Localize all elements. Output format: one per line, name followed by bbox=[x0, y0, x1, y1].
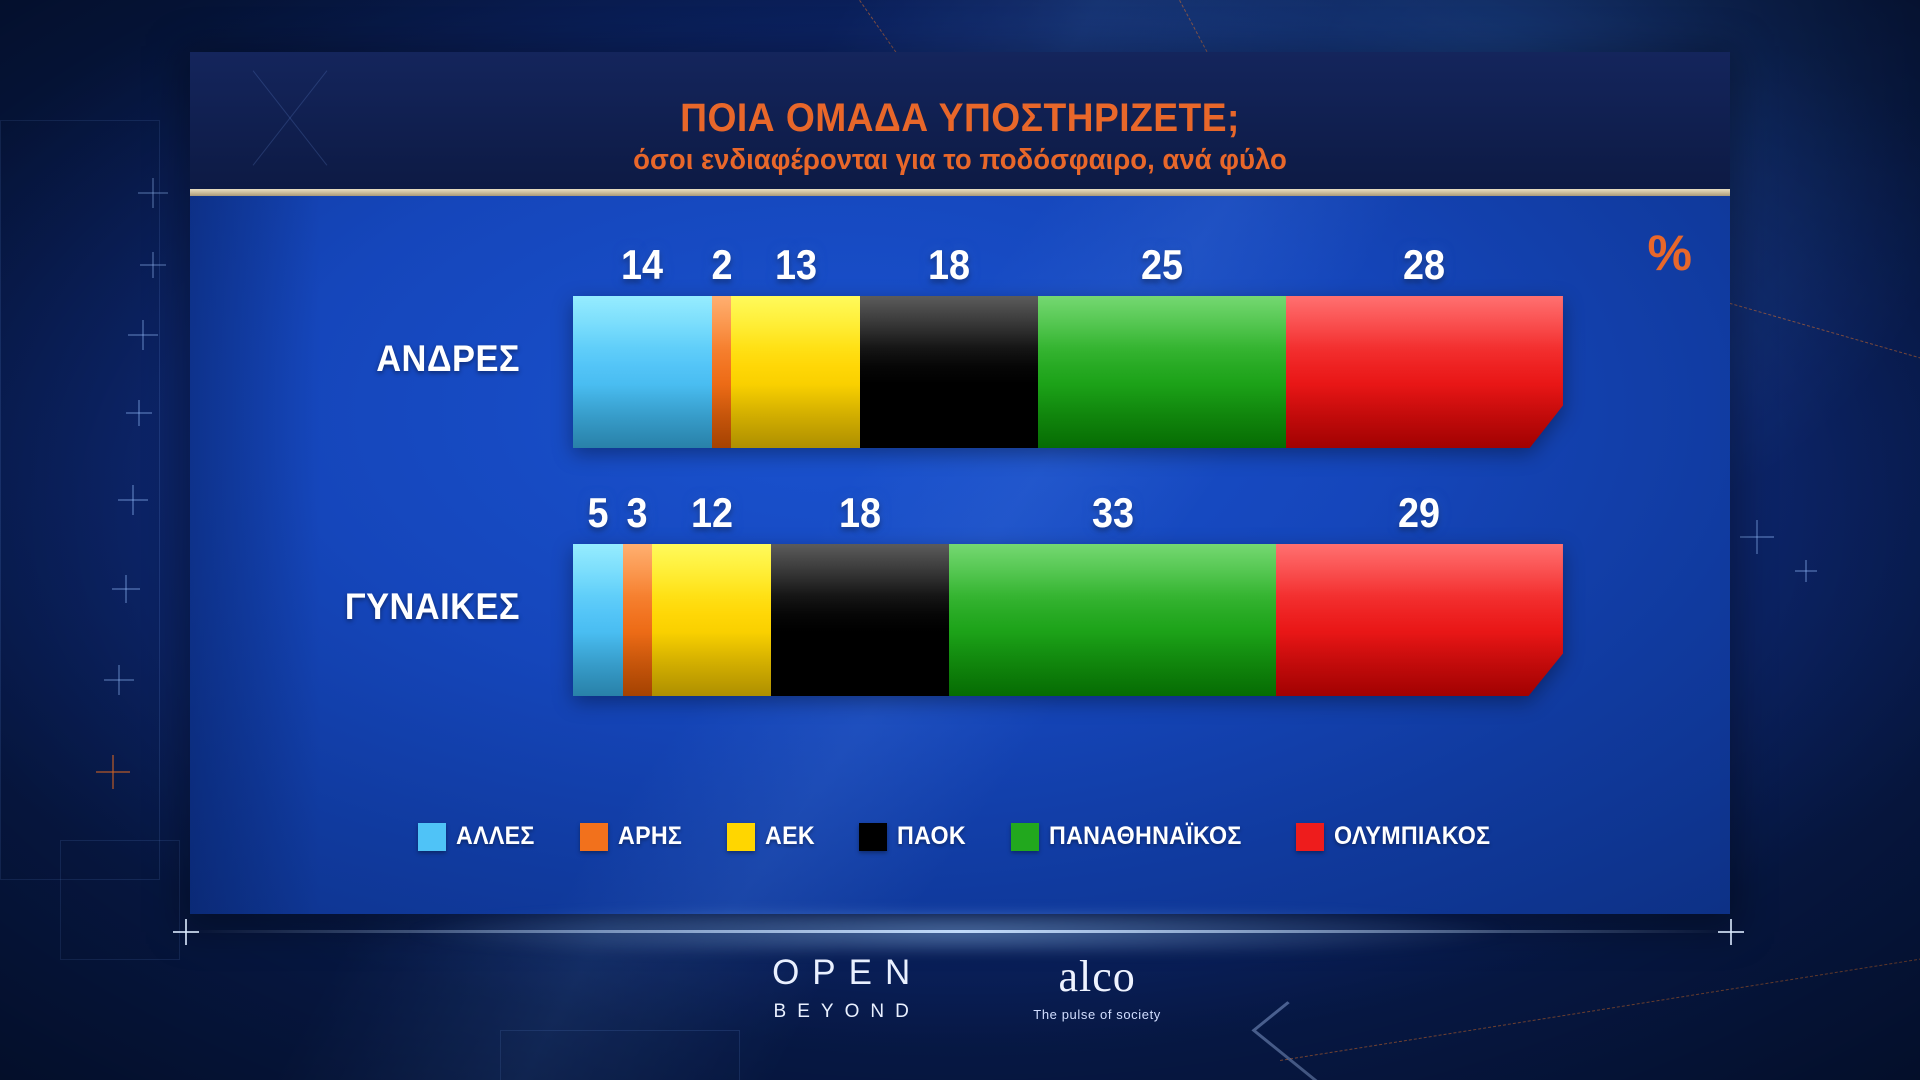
bar-value-label: 14 bbox=[621, 244, 663, 286]
bar-segment bbox=[623, 544, 653, 696]
open-logo-tagline: BEYOND bbox=[759, 1001, 923, 1023]
open-logo-word: OPEN bbox=[759, 955, 923, 990]
bar-segment bbox=[652, 544, 771, 696]
divider-tick-right-icon bbox=[1718, 919, 1744, 945]
bar-value-label: 5 bbox=[587, 492, 608, 534]
legend-item[interactable]: ΟΛΥΜΠΙΑΚΟΣ bbox=[1296, 822, 1502, 851]
legend-item[interactable]: ΑΛΛΕΣ bbox=[418, 822, 541, 851]
bar-value-label: 18 bbox=[839, 492, 881, 534]
legend-swatch-icon bbox=[1296, 823, 1324, 851]
value-labels-men: 14213182528 bbox=[573, 236, 1563, 286]
legend-item[interactable]: ΠΑΟΚ bbox=[859, 822, 971, 851]
bar-segment bbox=[731, 296, 860, 448]
alco-logo: alco The pulse of society bbox=[1033, 955, 1161, 1022]
alco-logo-word: alco bbox=[1033, 955, 1161, 999]
bar-value-label: 33 bbox=[1092, 492, 1134, 534]
row-label-men: ΑΝΔΡΕΣ bbox=[311, 338, 520, 380]
chart-row-women: ΓΥΝΑΙΚΕΣ 5312183329 bbox=[190, 484, 1730, 696]
divider-tick-left-icon bbox=[173, 919, 199, 945]
legend-label: ΠΑΟΚ bbox=[897, 822, 966, 851]
stacked-bar-women bbox=[573, 544, 1563, 696]
bar-segment bbox=[1276, 544, 1563, 696]
divider-line bbox=[185, 930, 1735, 933]
bar-segment bbox=[712, 296, 732, 448]
legend-label: ΟΛΥΜΠΙΑΚΟΣ bbox=[1334, 822, 1490, 851]
brand-bar: OPEN BEYOND alco The pulse of society bbox=[0, 955, 1920, 1023]
bar-segment bbox=[949, 544, 1276, 696]
row-label-women: ΓΥΝΑΙΚΕΣ bbox=[311, 586, 520, 628]
page-title: ΠΟΙΑ ΟΜΑΔΑ ΥΠΟΣΤΗΡΙΖΕΤΕ; bbox=[244, 96, 1676, 141]
value-labels-women: 5312183329 bbox=[573, 484, 1563, 534]
open-beyond-logo: OPEN BEYOND bbox=[759, 955, 923, 1023]
bar-segment bbox=[573, 544, 623, 696]
legend-item[interactable]: ΑΡΗΣ bbox=[580, 822, 687, 851]
bar-value-label: 25 bbox=[1141, 244, 1183, 286]
page-subtitle: όσοι ενδιαφέρονται για το ποδόσφαιρο, αν… bbox=[229, 144, 1692, 177]
bar-value-label: 29 bbox=[1398, 492, 1440, 534]
bar-segment bbox=[1286, 296, 1563, 448]
bar-segment bbox=[771, 544, 949, 696]
bar-value-label: 28 bbox=[1403, 244, 1445, 286]
chart-plot-area: % ΑΝΔΡΕΣ 14213182528 ΓΥΝΑΙΚΕΣ 5312183329… bbox=[190, 196, 1730, 914]
bar-value-label: 18 bbox=[928, 244, 970, 286]
bar-segment bbox=[860, 296, 1038, 448]
legend-label: ΑΕΚ bbox=[765, 822, 815, 851]
chart-row-men: ΑΝΔΡΕΣ 14213182528 bbox=[190, 236, 1730, 448]
chart-legend: ΑΛΛΕΣΑΡΗΣΑΕΚΠΑΟΚΠΑΝΑΘΗΝΑΪΚΟΣΟΛΥΜΠΙΑΚΟΣ bbox=[190, 822, 1730, 851]
bar-value-label: 2 bbox=[711, 244, 732, 286]
bar-segment bbox=[573, 296, 712, 448]
legend-swatch-icon bbox=[418, 823, 446, 851]
legend-swatch-icon bbox=[859, 823, 887, 851]
bar-value-label: 3 bbox=[627, 492, 648, 534]
graphic-header: ΠΟΙΑ ΟΜΑΔΑ ΥΠΟΣΤΗΡΙΖΕΤΕ; όσοι ενδιαφέρον… bbox=[190, 52, 1730, 189]
legend-label: ΑΛΛΕΣ bbox=[456, 822, 535, 851]
bar-segment bbox=[1038, 296, 1286, 448]
legend-label: ΑΡΗΣ bbox=[618, 822, 682, 851]
legend-swatch-icon bbox=[727, 823, 755, 851]
poll-graphic-panel: ΠΟΙΑ ΟΜΑΔΑ ΥΠΟΣΤΗΡΙΖΕΤΕ; όσοι ενδιαφέρον… bbox=[190, 52, 1730, 914]
legend-swatch-icon bbox=[1011, 823, 1039, 851]
legend-label: ΠΑΝΑΘΗΝΑΪΚΟΣ bbox=[1049, 822, 1242, 851]
legend-item[interactable]: ΑΕΚ bbox=[727, 822, 819, 851]
bar-value-label: 12 bbox=[691, 492, 733, 534]
stacked-bar-men bbox=[573, 296, 1563, 448]
legend-swatch-icon bbox=[580, 823, 608, 851]
bar-value-label: 13 bbox=[775, 244, 817, 286]
header-divider bbox=[190, 189, 1730, 196]
alco-logo-tagline: The pulse of society bbox=[1033, 1007, 1161, 1022]
legend-item[interactable]: ΠΑΝΑΘΗΝΑΪΚΟΣ bbox=[1011, 822, 1256, 851]
